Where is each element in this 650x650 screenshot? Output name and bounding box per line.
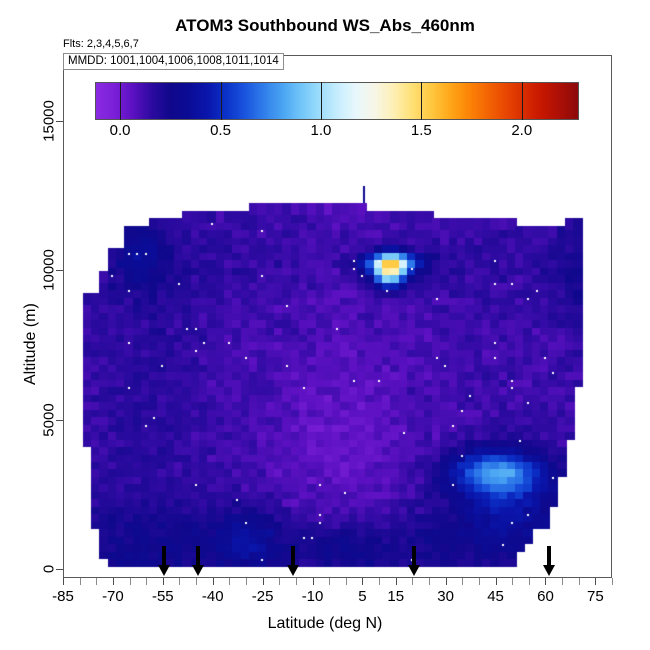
x-axis-tick xyxy=(130,578,131,585)
colorbar-tick xyxy=(321,82,322,120)
y-axis-tick-label: 0 xyxy=(41,565,58,573)
x-axis-tick xyxy=(346,578,347,585)
colorbar-canvas xyxy=(96,83,578,119)
x-axis-tick xyxy=(496,578,497,585)
x-axis-tick-label: 15 xyxy=(387,588,404,605)
x-axis-tick-label: 5 xyxy=(358,588,366,605)
colorbar-tick-label: 0.0 xyxy=(110,122,131,139)
x-axis-tick xyxy=(246,578,247,585)
x-axis-tick xyxy=(579,578,580,585)
x-axis-tick xyxy=(396,578,397,585)
x-axis-tick xyxy=(263,578,264,585)
colorbar-tick-label: 0.5 xyxy=(210,122,231,139)
x-axis-tick xyxy=(229,578,230,585)
x-axis-tick xyxy=(313,578,314,585)
x-axis-tick-label: 45 xyxy=(487,588,504,605)
colorbar-tick xyxy=(120,82,121,120)
x-axis-tick xyxy=(296,578,297,585)
y-axis-title: Altitude (m) xyxy=(22,303,40,385)
x-axis-tick xyxy=(429,578,430,585)
y-axis-tick-label: 15000 xyxy=(41,100,58,142)
x-axis-tick xyxy=(329,578,330,585)
y-axis-tick-label: 5000 xyxy=(41,403,58,436)
mmdd-annotation: MMDD: 1001,1004,1006,1008,1011,1014 xyxy=(63,53,284,70)
colorbar-tick xyxy=(221,82,222,120)
x-axis-tick-label: -40 xyxy=(202,588,224,605)
x-axis-tick xyxy=(213,578,214,585)
colorbar-gradient xyxy=(95,82,579,120)
colorbar: 0.00.51.01.52.0 xyxy=(95,82,579,120)
x-axis-tick xyxy=(595,578,596,585)
y-axis-tick xyxy=(56,270,63,271)
x-axis-tick xyxy=(146,578,147,585)
x-axis-tick xyxy=(196,578,197,585)
colorbar-tick xyxy=(421,82,422,120)
x-axis-tick xyxy=(446,578,447,585)
flights-annotation: Flts: 2,3,4,5,6,7 xyxy=(63,38,139,50)
x-axis-tick xyxy=(462,578,463,585)
x-axis-tick xyxy=(529,578,530,585)
x-axis-tick xyxy=(379,578,380,585)
x-axis-tick xyxy=(512,578,513,585)
x-axis-tick xyxy=(362,578,363,585)
x-axis-tick xyxy=(412,578,413,585)
x-axis-tick xyxy=(562,578,563,585)
x-axis-tick xyxy=(479,578,480,585)
colorbar-tick-label: 1.0 xyxy=(310,122,331,139)
page-title: ATOM3 Southbound WS_Abs_460nm xyxy=(0,16,650,36)
x-axis-tick xyxy=(96,578,97,585)
x-axis-tick xyxy=(63,578,64,585)
colorbar-tick-label: 1.5 xyxy=(411,122,432,139)
y-axis-tick xyxy=(56,569,63,570)
x-axis-tick xyxy=(80,578,81,585)
colorbar-tick xyxy=(522,82,523,120)
x-axis-tick-label: -10 xyxy=(302,588,324,605)
x-axis-tick xyxy=(279,578,280,585)
x-axis-tick-label: 75 xyxy=(587,588,604,605)
x-axis-tick-label: -25 xyxy=(252,588,274,605)
x-axis-title: Latitude (deg N) xyxy=(0,615,650,633)
x-axis-tick-label: -85 xyxy=(52,588,74,605)
x-axis-tick-label: -70 xyxy=(102,588,124,605)
x-axis-tick xyxy=(113,578,114,585)
colorbar-tick-label: 2.0 xyxy=(511,122,532,139)
x-axis-tick-label: 30 xyxy=(437,588,454,605)
x-axis-tick-label: -55 xyxy=(152,588,174,605)
x-axis-tick xyxy=(612,578,613,585)
y-axis-tick-label: 10000 xyxy=(41,249,58,291)
x-axis-tick xyxy=(163,578,164,585)
x-axis-tick xyxy=(179,578,180,585)
y-axis-tick xyxy=(56,420,63,421)
x-axis-tick xyxy=(545,578,546,585)
y-axis-tick xyxy=(56,121,63,122)
x-axis-tick-label: 60 xyxy=(537,588,554,605)
